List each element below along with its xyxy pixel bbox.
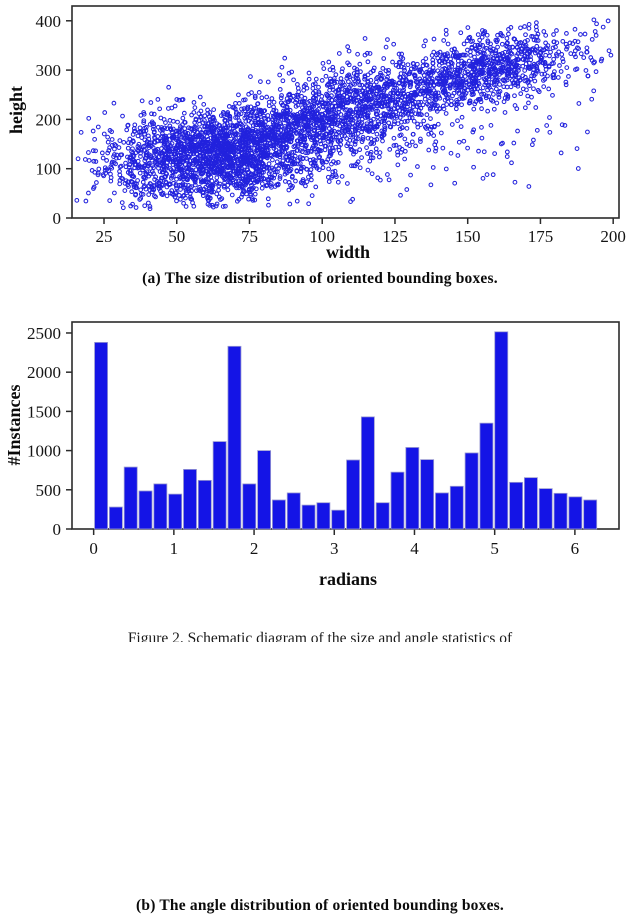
figure-caption-clipped: Figure 2. Schematic diagram of the size … xyxy=(0,629,640,642)
figure-container: 2550751001251501752000100200300400 width… xyxy=(0,0,640,642)
x-tick-label: 1 xyxy=(170,539,179,558)
y-tick-label: 500 xyxy=(36,481,62,500)
x-tick-label: 50 xyxy=(168,227,185,246)
bar xyxy=(154,484,167,529)
bar xyxy=(510,482,523,529)
panel-size-distribution: 2550751001251501752000100200300400 width… xyxy=(0,0,640,300)
bar xyxy=(228,346,241,529)
x-tick-label: 75 xyxy=(241,227,258,246)
scatter-plot: 2550751001251501752000100200300400 width… xyxy=(0,0,640,268)
bar xyxy=(198,480,211,529)
bar xyxy=(287,493,300,529)
x-tick-label: 200 xyxy=(600,227,626,246)
bar xyxy=(391,472,404,529)
bar xyxy=(347,460,360,529)
bar xyxy=(109,507,122,529)
scatter-points xyxy=(75,18,613,211)
y-tick-label: 300 xyxy=(36,61,62,80)
y-tick-label: 0 xyxy=(53,520,62,539)
bar xyxy=(169,494,182,529)
bar xyxy=(539,489,552,529)
bar xyxy=(480,423,493,529)
x-tick-label: 3 xyxy=(330,539,339,558)
x-tick-label: 5 xyxy=(490,539,499,558)
bar xyxy=(361,417,374,529)
x-tick-label: 2 xyxy=(250,539,259,558)
bar xyxy=(584,500,597,529)
bar xyxy=(332,510,345,529)
x-tick-label: 0 xyxy=(89,539,98,558)
y-tick-label: 400 xyxy=(36,12,62,31)
panel-angle-distribution: 012345605001000150020002500 radians #Ins… xyxy=(0,300,640,642)
subcaption-b: (b) The angle distribution of oriented b… xyxy=(0,897,640,915)
bar xyxy=(258,451,271,529)
bar xyxy=(435,493,448,529)
y-tick-label: 200 xyxy=(36,110,62,129)
y-tick-label: 1000 xyxy=(27,442,61,461)
y-tick-label: 2500 xyxy=(27,324,61,343)
bar xyxy=(406,447,419,529)
x-axis-title: width xyxy=(326,242,370,262)
bar xyxy=(524,478,537,529)
bar xyxy=(450,486,463,529)
x-tick-label: 6 xyxy=(571,539,580,558)
subcaption-a: (a) The size distribution of oriented bo… xyxy=(0,270,640,288)
bar-svg: 012345605001000150020002500 radians #Ins… xyxy=(0,300,640,595)
scatter-svg: 2550751001251501752000100200300400 width… xyxy=(0,0,640,268)
y-tick-label: 1500 xyxy=(27,402,61,421)
bar xyxy=(495,332,508,529)
bar xyxy=(317,503,330,529)
bar xyxy=(124,467,137,529)
y-axis-title: #Instances xyxy=(4,384,24,465)
y-tick-label: 2000 xyxy=(27,363,61,382)
bar xyxy=(183,469,196,529)
bar xyxy=(213,442,226,529)
bar-series xyxy=(95,332,597,529)
bar xyxy=(569,497,582,529)
bar xyxy=(421,460,434,529)
bar xyxy=(139,491,152,529)
x-tick-label: 150 xyxy=(455,227,481,246)
x-tick-label: 175 xyxy=(528,227,554,246)
y-tick-label: 100 xyxy=(36,160,62,179)
bar xyxy=(376,503,389,529)
bar xyxy=(465,453,478,529)
bar xyxy=(272,500,285,529)
x-axis-title: radians xyxy=(319,569,377,589)
x-tick-label: 125 xyxy=(382,227,408,246)
y-tick-label: 0 xyxy=(53,209,62,228)
bar xyxy=(243,484,256,529)
bar xyxy=(95,342,108,529)
x-tick-label: 25 xyxy=(96,227,113,246)
x-tick-label: 4 xyxy=(410,539,419,558)
bar xyxy=(302,505,315,529)
bar-chart: 012345605001000150020002500 radians #Ins… xyxy=(0,300,640,595)
y-axis-title: height xyxy=(6,86,26,134)
bar xyxy=(554,493,567,529)
